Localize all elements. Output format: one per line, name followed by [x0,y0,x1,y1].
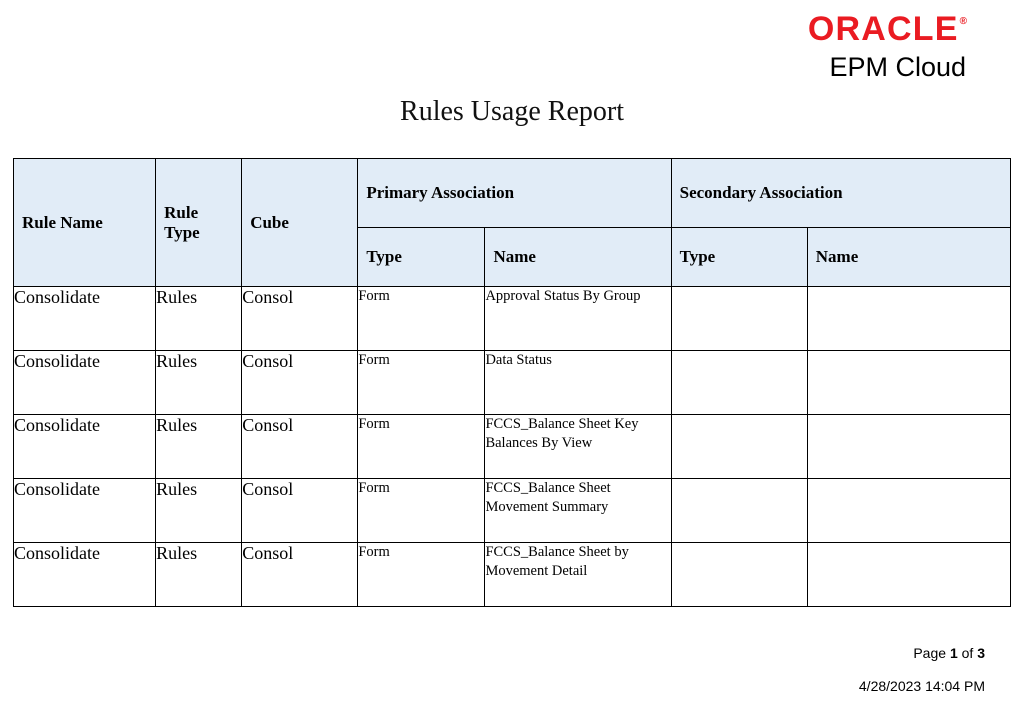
cell-secondary-name [807,543,1010,607]
table-row: Consolidate Rules Consol Form Approval S… [14,287,1011,351]
cell-primary-name: FCCS_Balance Sheet by Movement Detail [485,543,671,607]
cell-rule-name: Consolidate [14,543,156,607]
cell-primary-name: Approval Status By Group [485,287,671,351]
table-body: Consolidate Rules Consol Form Approval S… [14,287,1011,607]
column-header-primary-association: Primary Association [358,159,671,228]
cell-rule-name: Consolidate [14,351,156,415]
cell-secondary-name [807,351,1010,415]
column-header-secondary-association: Secondary Association [671,159,1010,228]
column-header-primary-type: Type [358,228,485,287]
cell-rule-type: Rules [156,287,242,351]
table-header-row-group: Rule Name Rule Type Cube Primary Associa… [14,159,1011,228]
cell-secondary-name [807,287,1010,351]
cell-rule-name: Consolidate [14,415,156,479]
cell-primary-name: FCCS_Balance Sheet Key Balances By View [485,415,671,479]
cell-primary-name: Data Status [485,351,671,415]
page-of-label: of [962,645,974,661]
column-header-cube: Cube [242,159,358,287]
table-row: Consolidate Rules Consol Form FCCS_Balan… [14,415,1011,479]
table-header: Rule Name Rule Type Cube Primary Associa… [14,159,1011,287]
cell-primary-type: Form [358,351,485,415]
cell-rule-type: Rules [156,351,242,415]
page-total: 3 [977,645,985,661]
cell-secondary-type [671,415,807,479]
cell-secondary-type [671,287,807,351]
cell-primary-type: Form [358,287,485,351]
cell-primary-name: FCCS_Balance Sheet Movement Summary [485,479,671,543]
cell-primary-type: Form [358,543,485,607]
registered-trademark-icon: ® [960,16,967,27]
cell-primary-type: Form [358,415,485,479]
table-row: Consolidate Rules Consol Form FCCS_Balan… [14,543,1011,607]
cell-cube: Consol [242,351,358,415]
oracle-wordmark: ORACLE [808,12,959,46]
cell-rule-type: Rules [156,479,242,543]
oracle-branding: ORACLE® EPM Cloud [808,12,966,81]
oracle-logo: ORACLE® [808,12,966,46]
table-row: Consolidate Rules Consol Form FCCS_Balan… [14,479,1011,543]
column-header-secondary-type: Type [671,228,807,287]
column-header-rule-type: Rule Type [156,159,242,287]
page-current: 1 [950,645,958,661]
cell-cube: Consol [242,287,358,351]
rules-usage-table: Rule Name Rule Type Cube Primary Associa… [13,158,1011,607]
page-number-footer: Page 1 of 3 [913,645,985,661]
column-header-rule-name: Rule Name [14,159,156,287]
cell-secondary-type [671,351,807,415]
cell-secondary-type [671,479,807,543]
page-title: Rules Usage Report [0,96,1024,128]
cell-rule-type: Rules [156,543,242,607]
cell-secondary-type [671,543,807,607]
table-row: Consolidate Rules Consol Form Data Statu… [14,351,1011,415]
cell-primary-type: Form [358,479,485,543]
column-header-primary-name: Name [485,228,671,287]
cell-cube: Consol [242,543,358,607]
column-header-secondary-name: Name [807,228,1010,287]
cell-cube: Consol [242,479,358,543]
cell-rule-name: Consolidate [14,479,156,543]
cell-cube: Consol [242,415,358,479]
report-timestamp: 4/28/2023 14:04 PM [859,678,985,694]
page-label: Page [913,645,946,661]
cell-secondary-name [807,479,1010,543]
product-name: EPM Cloud [808,54,966,81]
cell-rule-name: Consolidate [14,287,156,351]
cell-rule-type: Rules [156,415,242,479]
cell-secondary-name [807,415,1010,479]
